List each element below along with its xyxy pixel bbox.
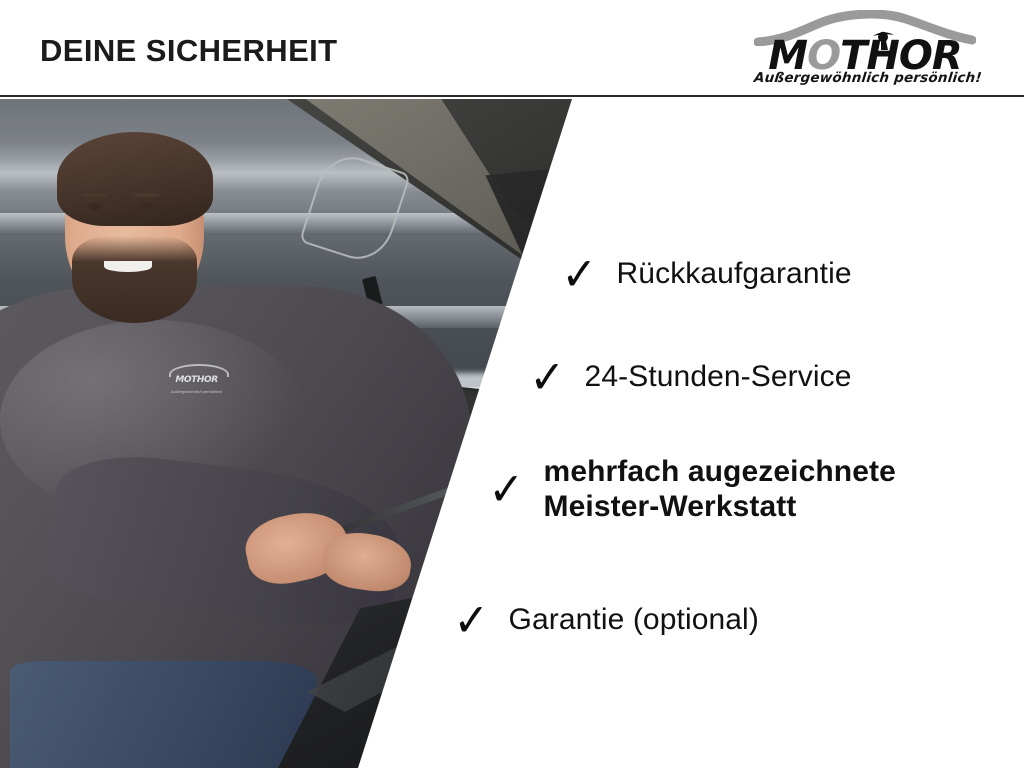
checklist-item-label: Rückkaufgarantie: [617, 256, 852, 291]
checklist-item-meister-werkstatt: ✓ mehrfach augezeichnete Meister-Werksta…: [487, 454, 896, 525]
checklist-item-label-line1: mehrfach augezeichnete: [544, 455, 896, 488]
check-icon: ✓: [454, 597, 489, 643]
checklist-item-label: 24-Stunden-Service: [585, 359, 852, 394]
checklist-item-label: Garantie (optional): [509, 602, 759, 637]
check-icon: ✓: [530, 354, 565, 400]
header-bar: DEINE SICHERHEIT MOTHOR Außergewöhnlich …: [0, 0, 1024, 97]
benefits-checklist: ✓ Rückkaufgarantie ✓ 24-Stunden-Service …: [0, 99, 1024, 768]
checklist-item-24-stunden-service: ✓ 24-Stunden-Service: [528, 354, 852, 400]
page-title: DEINE SICHERHEIT: [40, 33, 338, 69]
logo-tagline: Außergewöhnlich persönlich!: [753, 70, 977, 86]
mothor-logo: MOTHOR Außergewöhnlich persönlich!: [754, 8, 976, 92]
slide-root: DEINE SICHERHEIT MOTHOR Außergewöhnlich …: [0, 0, 1024, 768]
check-icon: ✓: [489, 466, 524, 512]
checklist-item-garantie-optional: ✓ Garantie (optional): [452, 597, 759, 643]
check-icon: ✓: [562, 251, 597, 297]
checklist-item-label: mehrfach augezeichnete Meister-Werkstatt: [544, 454, 896, 525]
checklist-item-rueckkaufgarantie: ✓ Rückkaufgarantie: [560, 251, 852, 297]
checklist-item-label-line2: Meister-Werkstatt: [544, 490, 797, 523]
content-area: MOTHOR Außergewöhnlich persönlich! ✓ Rüc…: [0, 99, 1024, 768]
